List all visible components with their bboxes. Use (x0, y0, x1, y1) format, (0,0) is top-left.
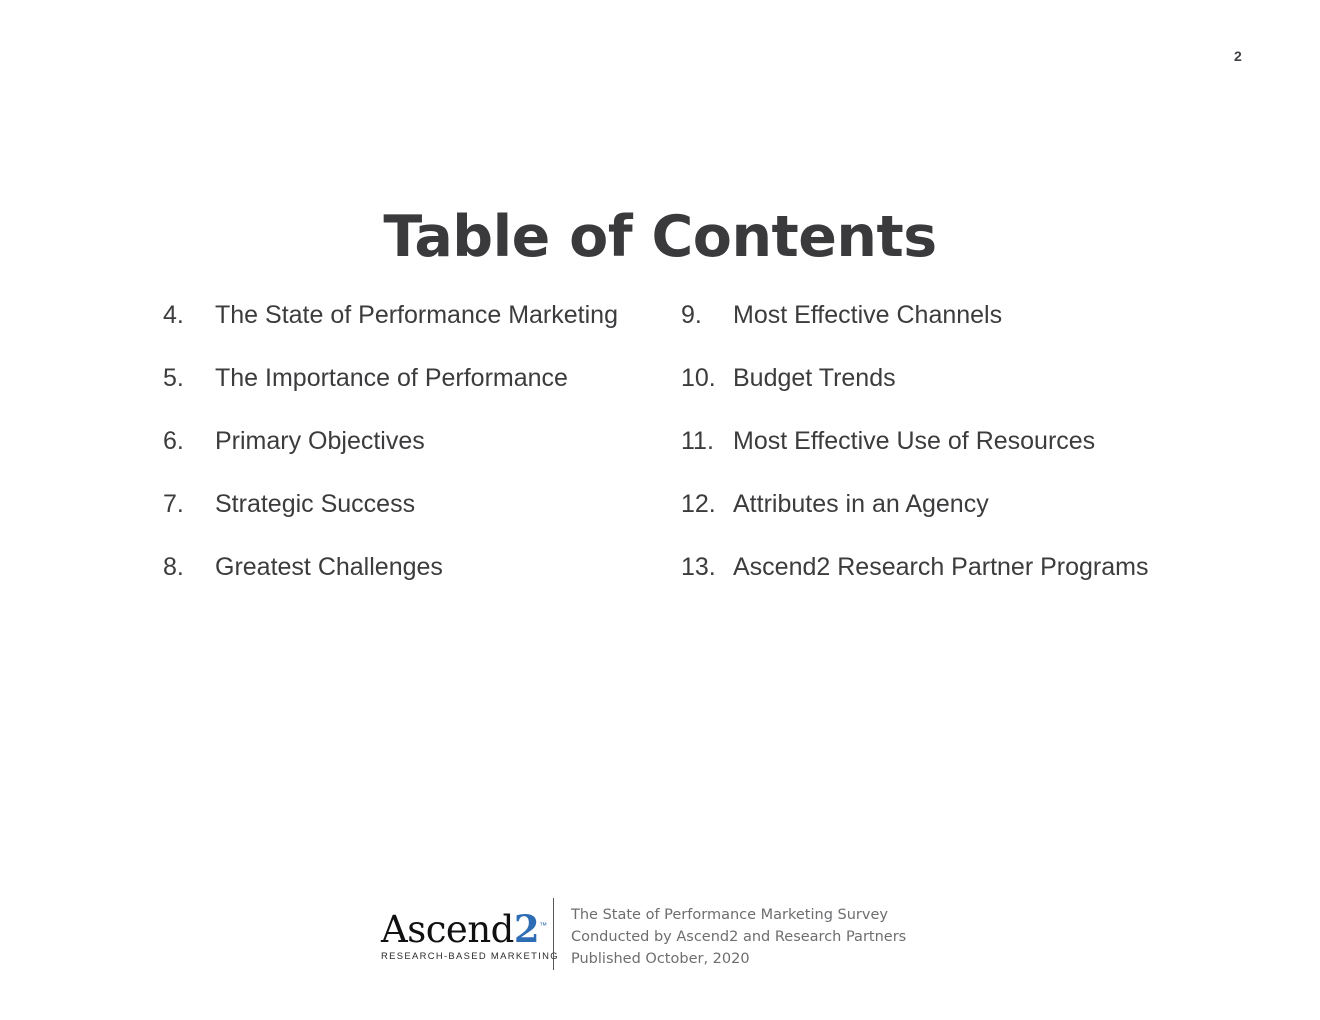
toc-item-number: 5. (163, 362, 215, 394)
toc-item-label: The State of Performance Marketing (215, 299, 618, 331)
toc-item-number: 7. (163, 488, 215, 520)
toc-item-5[interactable]: 5. The Importance of Performance (163, 362, 681, 425)
toc-item-6[interactable]: 6. Primary Objectives (163, 425, 681, 488)
toc-item-label: The Importance of Performance (215, 362, 568, 394)
footer-line-2: Conducted by Ascend2 and Research Partne… (571, 926, 906, 948)
page-title: Table of Contents (0, 206, 1320, 269)
toc-item-12[interactable]: 12. Attributes in an Agency (681, 488, 1221, 551)
ascend2-logo: Ascend2™ RESEARCH-BASED MARKETING (381, 893, 531, 962)
logo-word: Ascend (381, 908, 514, 951)
logo-numeral: 2 (514, 907, 539, 951)
page-number: 2 (1234, 48, 1242, 64)
footer-line-3: Published October, 2020 (571, 948, 906, 970)
toc-item-label: Most Effective Use of Resources (733, 425, 1095, 457)
toc-item-label: Strategic Success (215, 488, 415, 520)
toc-item-label: Greatest Challenges (215, 551, 443, 583)
trademark-icon: ™ (539, 921, 547, 930)
toc-item-label: Ascend2 Research Partner Programs (733, 551, 1148, 583)
toc-item-10[interactable]: 10. Budget Trends (681, 362, 1221, 425)
toc-item-number: 6. (163, 425, 215, 457)
slide-table-of-contents: 2 Table of Contents 4. The State of Perf… (0, 0, 1320, 1020)
toc-item-label: Budget Trends (733, 362, 896, 394)
toc-item-label: Most Effective Channels (733, 299, 1002, 331)
toc-item-7[interactable]: 7. Strategic Success (163, 488, 681, 551)
toc-item-number: 12. (681, 488, 733, 520)
toc-item-number: 4. (163, 299, 215, 331)
toc-item-label: Primary Objectives (215, 425, 425, 457)
logo-tagline: RESEARCH-BASED MARKETING (381, 951, 530, 962)
toc-item-number: 9. (681, 299, 733, 331)
toc-item-number: 11. (681, 425, 733, 457)
toc-item-11[interactable]: 11. Most Effective Use of Resources (681, 425, 1221, 488)
toc-item-9[interactable]: 9. Most Effective Channels (681, 299, 1221, 362)
logo-wordmark: Ascend2™ (381, 906, 531, 950)
table-of-contents: 4. The State of Performance Marketing 5.… (163, 299, 1223, 614)
toc-item-number: 10. (681, 362, 733, 394)
toc-item-8[interactable]: 8. Greatest Challenges (163, 551, 681, 614)
toc-item-number: 8. (163, 551, 215, 583)
slide-footer: Ascend2™ RESEARCH-BASED MARKETING The St… (381, 893, 906, 970)
toc-column-right: 9. Most Effective Channels 10. Budget Tr… (681, 299, 1221, 614)
toc-item-number: 13. (681, 551, 733, 583)
toc-item-13[interactable]: 13. Ascend2 Research Partner Programs (681, 551, 1221, 614)
footer-caption: The State of Performance Marketing Surve… (571, 893, 906, 970)
toc-item-label: Attributes in an Agency (733, 488, 989, 520)
footer-line-1: The State of Performance Marketing Surve… (571, 904, 906, 926)
toc-item-4[interactable]: 4. The State of Performance Marketing (163, 299, 681, 362)
toc-column-left: 4. The State of Performance Marketing 5.… (163, 299, 681, 614)
